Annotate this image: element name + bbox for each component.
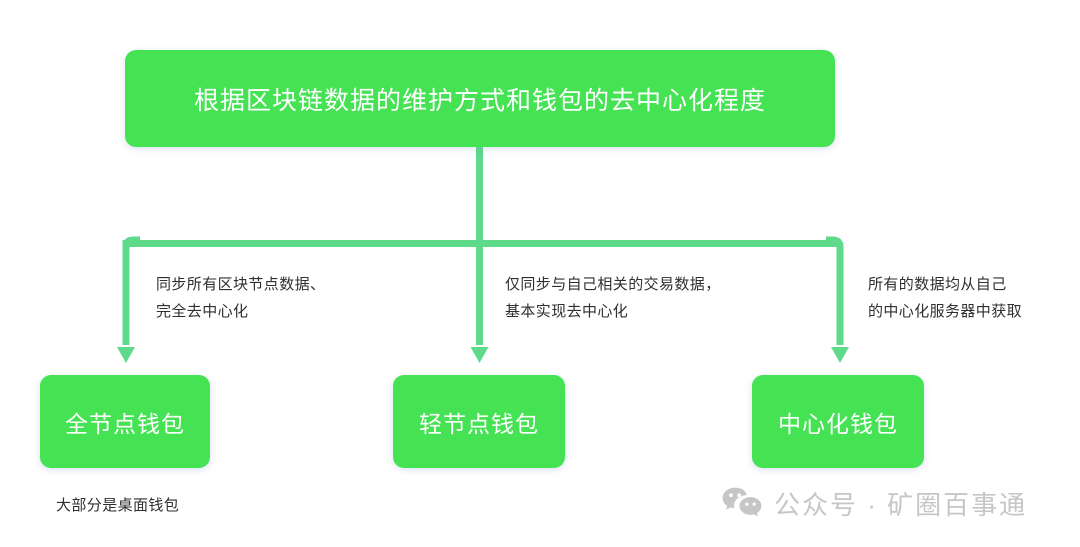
root-node-criteria[interactable]: 根据区块链数据的维护方式和钱包的去中心化程度 bbox=[125, 50, 835, 147]
branch-label-full-node: 同步所有区块节点数据、 完全去中心化 bbox=[156, 271, 325, 325]
branch-label-light-node: 仅同步与自己相关的交易数据， 基本实现去中心化 bbox=[505, 271, 721, 325]
flowchart-diagram: 根据区块链数据的维护方式和钱包的去中心化程度 同步所有区块节点数据、 完全去中心… bbox=[0, 0, 1080, 547]
watermark: 公众号 · 矿圈百事通 bbox=[722, 485, 1027, 522]
connector-corner-left bbox=[126, 240, 140, 250]
arrowhead-right bbox=[831, 347, 849, 363]
root-node-label: 根据区块链数据的维护方式和钱包的去中心化程度 bbox=[194, 81, 766, 117]
footnote-desktop-wallet: 大部分是桌面钱包 bbox=[56, 494, 179, 515]
watermark-text: 公众号 · 矿圈百事通 bbox=[774, 485, 1027, 522]
leaf-node-light-node-wallet[interactable]: 轻节点钱包 bbox=[393, 375, 565, 468]
leaf-node-full-node-wallet[interactable]: 全节点钱包 bbox=[40, 375, 210, 468]
leaf-node-centralized-wallet[interactable]: 中心化钱包 bbox=[752, 375, 924, 468]
leaf-node-label: 中心化钱包 bbox=[778, 405, 898, 439]
arrowhead-middle bbox=[471, 347, 489, 363]
leaf-node-label: 轻节点钱包 bbox=[419, 405, 539, 439]
wechat-icon bbox=[722, 487, 762, 520]
leaf-node-label: 全节点钱包 bbox=[65, 405, 185, 439]
branch-label-centralized: 所有的数据均从自己 的中心化服务器中获取 bbox=[868, 271, 1022, 325]
arrowhead-left bbox=[117, 347, 135, 363]
connector-corner-right bbox=[826, 240, 840, 250]
